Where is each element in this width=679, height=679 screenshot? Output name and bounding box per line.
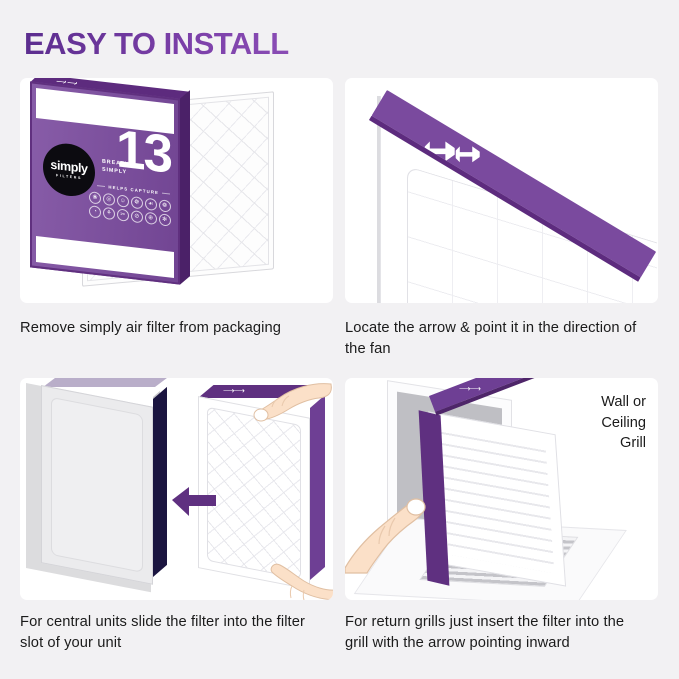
mold-icon: ☙	[145, 198, 157, 211]
box-side-edge	[180, 90, 190, 284]
hand-lower	[270, 546, 333, 600]
airflow-arrow-icon-2	[456, 142, 480, 166]
unit-top-lip	[43, 378, 168, 387]
step-4-caption: For return grills just insert the filter…	[345, 612, 645, 655]
bacteria-icon: ☸	[131, 196, 143, 209]
step-2-caption: Locate the arrow & point it in the direc…	[345, 318, 645, 361]
label-line-3: Grill	[601, 433, 646, 454]
divider-line-right	[162, 193, 170, 195]
airflow-arrow-icon-1	[425, 136, 455, 166]
airflow-arrows-group	[425, 136, 480, 166]
step-1-caption: Remove simply air filter from packaging	[20, 318, 320, 339]
smoke-icon: ⊘	[131, 209, 143, 222]
inward-arrow-marks-icon: ⟶⟶	[459, 384, 480, 393]
slide-direction-arrow-icon	[172, 486, 216, 525]
hand-inserting-filter	[345, 476, 463, 574]
filter-panel	[377, 88, 658, 303]
droplet-icon: ◎	[103, 193, 115, 206]
label-line-2: Ceiling	[601, 413, 646, 434]
wall-ceiling-grill-label: Wall or Ceiling Grill	[601, 392, 646, 454]
chemical-icon: ⚘	[103, 206, 115, 219]
step-card-1: simply FILTERS BREATHE SIMPLY MERV 13	[20, 78, 338, 339]
step-card-2: Locate the arrow & point it in the direc…	[345, 78, 663, 361]
divider-line-left	[97, 185, 105, 187]
product-box-scene: simply FILTERS BREATHE SIMPLY MERV 13	[20, 78, 333, 303]
airflow-arrow-scene	[345, 78, 658, 303]
step-4-illustration: ⟶⟶ Wall or Ceiling	[345, 378, 658, 600]
infographic-page: EASY TO INSTALL simply FILTERS	[0, 0, 679, 679]
hand-upper	[253, 382, 333, 432]
step-3-caption: For central units slide the filter into …	[20, 612, 320, 655]
spore-icon: ✻	[159, 213, 171, 226]
step-card-3: ⟶⟶	[20, 378, 338, 655]
step-1-illustration: simply FILTERS BREATHE SIMPLY MERV 13	[20, 78, 333, 303]
slide-filter-scene: ⟶⟶	[20, 378, 333, 600]
smile-icon: ☺	[117, 194, 129, 207]
flower-icon: ❁	[159, 199, 171, 212]
pollen-icon: ❀	[89, 191, 101, 204]
pet-hair-icon: ✂	[117, 208, 129, 221]
step-2-illustration	[345, 78, 658, 303]
wall-grill-scene: ⟶⟶ Wall or Ceiling	[345, 378, 658, 600]
merv-rating-block: MERV 13	[116, 117, 171, 178]
unit-front-face	[41, 385, 153, 585]
page-title: EASY TO INSTALL	[24, 26, 289, 62]
step-card-4: ⟶⟶ Wall or Ceiling	[345, 378, 663, 655]
label-line-1: Wall or	[601, 392, 646, 413]
unit-slot-opening	[153, 387, 167, 577]
allergen-icon: ⊕	[145, 211, 157, 224]
hvac-unit-slot	[26, 383, 166, 568]
product-box: simply FILTERS BREATHE SIMPLY MERV 13	[30, 81, 180, 284]
step-3-illustration: ⟶⟶	[20, 378, 333, 600]
merv-value: 13	[116, 126, 171, 178]
dust-icon: ◔	[89, 205, 101, 218]
filter-arrow-marks-icon: ⟶⟶	[223, 386, 244, 395]
